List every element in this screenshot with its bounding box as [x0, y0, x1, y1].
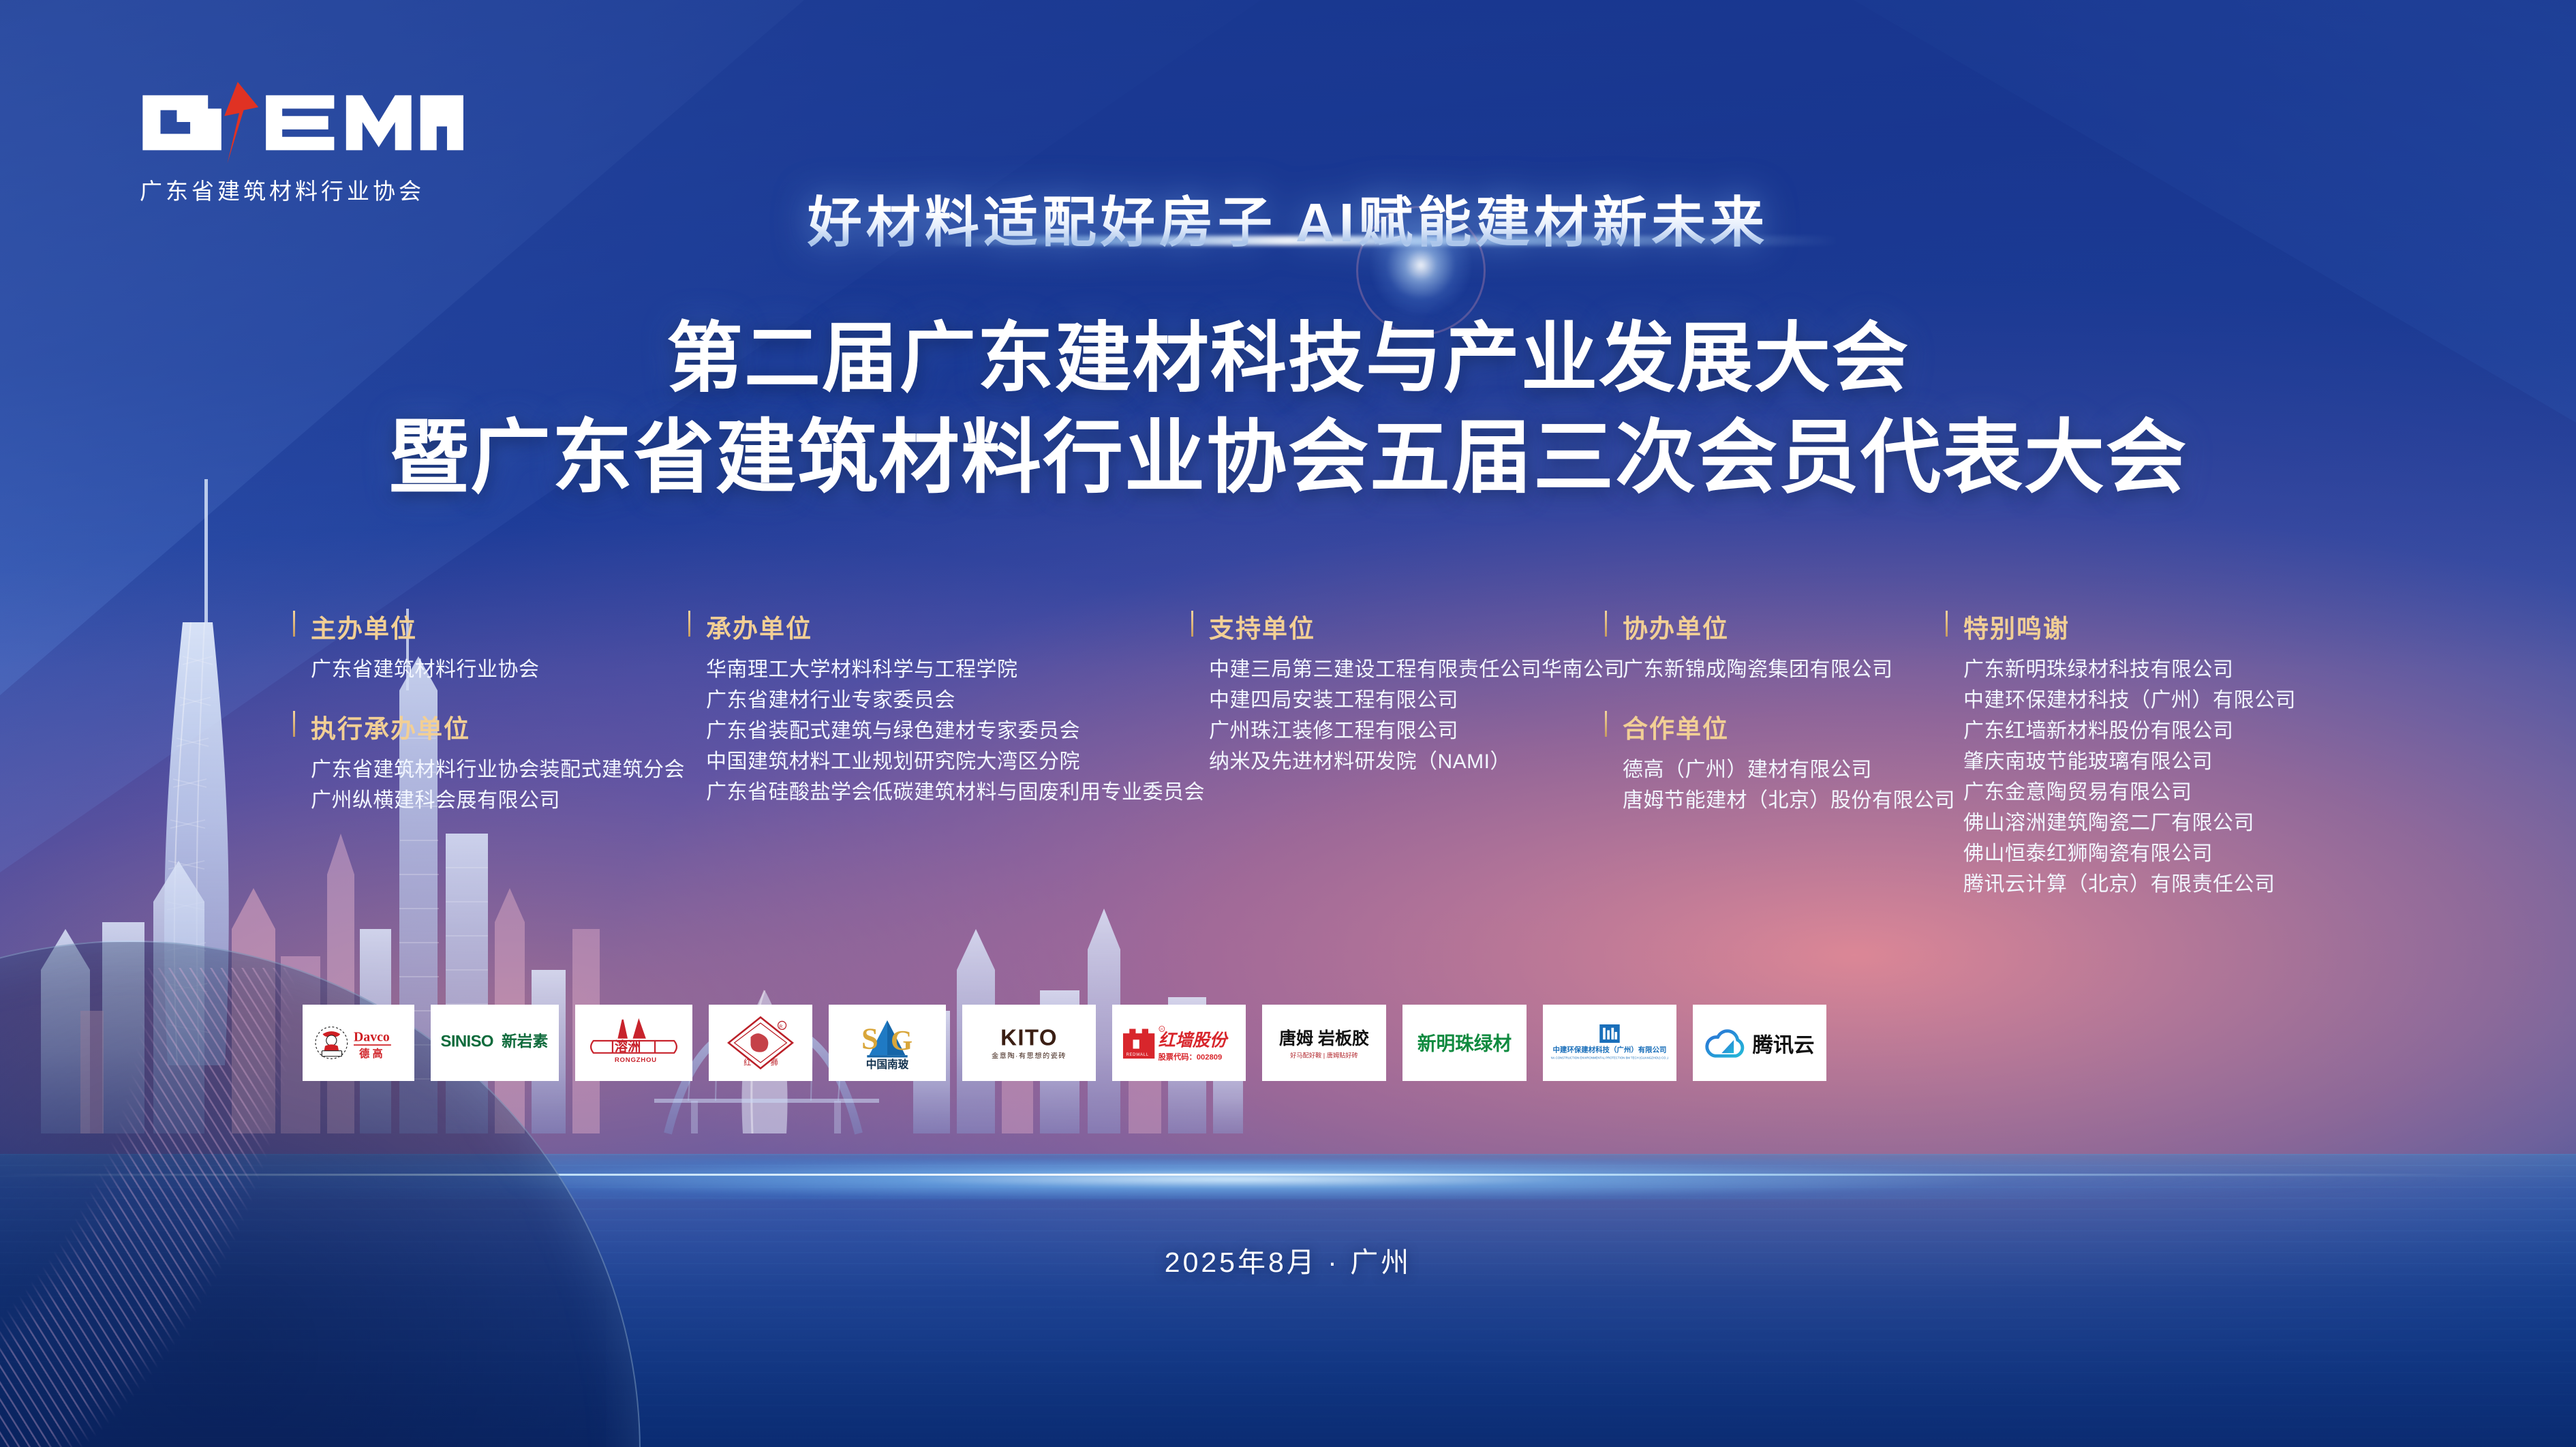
svg-text:CHINA CONSTRUCTION ENVIRONMENT: CHINA CONSTRUCTION ENVIRONMENTAL PROTECT… — [1551, 1056, 1668, 1059]
svg-text:R: R — [779, 1024, 782, 1029]
svg-text:狮: 狮 — [771, 1058, 778, 1067]
org-list-chengban: 华南理工大学材料科学与工程学院 广东省建材行业专家委员会 广东省装配式建筑与绿色… — [688, 654, 1205, 808]
svg-text:唐姆 岩板胶: 唐姆 岩板胶 — [1279, 1029, 1369, 1048]
org-column-2: 承办单位 华南理工大学材料科学与工程学院 广东省建材行业专家委员会 广东省装配式… — [688, 608, 1205, 819]
org-item: 腾讯云计算（北京）有限责任公司 — [1963, 869, 2296, 900]
svg-text:腾讯云: 腾讯云 — [1753, 1034, 1815, 1057]
org-list-zhixing-chengban: 广东省建筑材料行业协会装配式建筑分会 广州纵横建科会展有限公司 — [293, 755, 685, 816]
org-item: 广东省建筑材料行业协会 — [311, 654, 685, 685]
org-heading-tebie-mingxie: 特别鸣谢 — [1946, 608, 2296, 645]
sponsor-logo-kito: KITO 金意陶·有思想的瓷砖 — [962, 1005, 1096, 1081]
org-heading-xieban: 协办单位 — [1605, 608, 1955, 645]
sponsor-logo-siniso: SINISO 新岩素 — [431, 1005, 559, 1081]
org-heading-zhixing-chengban: 执行承办单位 — [293, 708, 685, 745]
org-item: 华南理工大学材料科学与工程学院 — [706, 654, 1205, 685]
sponsor-logo-cscec: 中建环保建材科技（广州）有限公司 CHINA CONSTRUCTION ENVI… — [1543, 1005, 1676, 1081]
svg-text:中建环保建材科技（广州）有限公司: 中建环保建材科技（广州）有限公司 — [1553, 1046, 1667, 1054]
sponsor-logo-rongzhou: 溶洲 RONGZHOU — [575, 1005, 692, 1081]
org-item: 中国建筑材料工业规划研究院大湾区分院 — [706, 746, 1205, 777]
org-item: 广东省硅酸盐学会低碳建筑材料与固废利用专业委员会 — [706, 777, 1205, 808]
org-list-tebie-mingxie: 广东新明珠绿材科技有限公司 中建环保建材科技（广州）有限公司 广东红墙新材料股份… — [1946, 654, 2296, 900]
gbma-logomark — [140, 80, 467, 164]
org-list-zhichi: 中建三局第三建设工程有限责任公司华南公司 中建四局安装工程有限公司 广州珠江装修… — [1191, 654, 1625, 777]
sponsor-logo-strip: Davco 德 高 SINISO 新岩素 溶洲 — [0, 1002, 2576, 1084]
svg-text:德 高: 德 高 — [359, 1048, 383, 1060]
org-item: 广东省建筑材料行业协会装配式建筑分会 — [311, 755, 685, 785]
svg-text:新明珠绿材: 新明珠绿材 — [1417, 1033, 1512, 1054]
tagline-block: 好材料适配好房子 AI赋能建材新未来 — [0, 179, 2576, 267]
sponsor-logo-tangmu: 唐姆 岩板胶 好马配好鞍 | 唐姆贴好砖 — [1262, 1005, 1386, 1081]
svg-text:红: 红 — [743, 1058, 751, 1067]
conference-banner: 广东省建筑材料行业协会 好材料适配好房子 AI赋能建材新未来 第二届广东建材科技… — [0, 0, 2576, 1447]
sponsor-logo-redwall: REDWALL R 红墙股份 股票代码：002809 — [1112, 1005, 1246, 1081]
org-item: 广东红墙新材料股份有限公司 — [1963, 716, 2296, 746]
org-item: 广东新明珠绿材科技有限公司 — [1963, 654, 2296, 685]
org-heading-zhuban: 主办单位 — [293, 608, 685, 645]
org-item: 唐姆节能建材（北京）股份有限公司 — [1623, 785, 1955, 816]
svg-text:Davco: Davco — [354, 1030, 390, 1045]
svg-text:溶洲: 溶洲 — [615, 1039, 641, 1054]
svg-text:金意陶·有思想的瓷砖: 金意陶·有思想的瓷砖 — [992, 1052, 1067, 1061]
svg-text:S: S — [861, 1021, 878, 1055]
org-item: 广东金意陶贸易有限公司 — [1963, 777, 2296, 808]
event-date-location: 2025年8月 · 广州 — [0, 1239, 2576, 1280]
org-list-hezuo: 德高（广州）建材有限公司 唐姆节能建材（北京）股份有限公司 — [1605, 755, 1955, 816]
org-column-4: 协办单位 广东新锦成陶瓷集团有限公司 合作单位 德高（广州）建材有限公司 唐姆节… — [1605, 608, 1955, 827]
org-item: 中建四局安装工程有限公司 — [1209, 685, 1625, 716]
svg-text:好马配好鞍 | 唐姆贴好砖: 好马配好鞍 | 唐姆贴好砖 — [1290, 1052, 1358, 1059]
organizations-block: 主办单位 广东省建筑材料行业协会 执行承办单位 广东省建筑材料行业协会装配式建筑… — [0, 608, 2576, 853]
org-item: 德高（广州）建材有限公司 — [1623, 755, 1955, 785]
org-item: 广州珠江装修工程有限公司 — [1209, 716, 1625, 746]
org-heading-hezuo: 合作单位 — [1605, 708, 1955, 745]
svg-text:新岩素: 新岩素 — [502, 1033, 548, 1050]
org-heading-zhichi: 支持单位 — [1191, 608, 1625, 645]
org-item: 广东省装配式建筑与绿色建材专家委员会 — [706, 716, 1205, 746]
sponsor-logo-davco: Davco 德 高 — [303, 1005, 414, 1081]
sponsor-logo-tencentcloud: 腾讯云 — [1693, 1005, 1826, 1081]
org-item: 广东省建材行业专家委员会 — [706, 685, 1205, 716]
org-column-3: 支持单位 中建三局第三建设工程有限责任公司华南公司 中建四局安装工程有限公司 广… — [1191, 608, 1625, 788]
org-item: 肇庆南玻节能玻璃有限公司 — [1963, 746, 2296, 777]
org-item: 广东新锦成陶瓷集团有限公司 — [1623, 654, 1955, 685]
svg-text:REDWALL: REDWALL — [1126, 1053, 1149, 1057]
org-heading-chengban: 承办单位 — [688, 608, 1205, 645]
org-item: 中建环保建材科技（广州）有限公司 — [1963, 685, 2296, 716]
org-item: 纳米及先进材料研发院（NAMI） — [1209, 746, 1625, 777]
sponsor-logo-hongshi: R 红 狮 — [709, 1005, 812, 1081]
org-item: 中建三局第三建设工程有限责任公司华南公司 — [1209, 654, 1625, 685]
svg-text:中国南玻: 中国南玻 — [866, 1058, 909, 1071]
svg-text:红墙股份: 红墙股份 — [1159, 1031, 1229, 1050]
sponsor-logo-xinmingzhu: 新明珠绿材 — [1402, 1005, 1527, 1081]
org-list-zhuban: 广东省建筑材料行业协会 — [293, 654, 685, 685]
org-column-5: 特别鸣谢 广东新明珠绿材科技有限公司 中建环保建材科技（广州）有限公司 广东红墙… — [1946, 608, 2296, 911]
org-list-xieban: 广东新锦成陶瓷集团有限公司 — [1605, 654, 1955, 685]
org-column-1: 主办单位 广东省建筑材料行业协会 执行承办单位 广东省建筑材料行业协会装配式建筑… — [293, 608, 685, 827]
svg-text:RONGZHOU: RONGZHOU — [615, 1056, 657, 1064]
event-title-block: 第二届广东建材科技与产业发展大会 暨广东省建筑材料行业协会五届三次会员代表大会 — [0, 312, 2576, 508]
svg-text:SINISO: SINISO — [441, 1033, 493, 1051]
svg-text:股票代码：002809: 股票代码：002809 — [1159, 1052, 1223, 1061]
svg-text:R: R — [1161, 1027, 1163, 1031]
event-title-line1: 第二届广东建材科技与产业发展大会 — [0, 312, 2576, 406]
svg-text:KITO: KITO — [1000, 1024, 1058, 1050]
org-item: 佛山恒泰红狮陶瓷有限公司 — [1963, 838, 2296, 869]
event-title-line2: 暨广东省建筑材料行业协会五届三次会员代表大会 — [0, 410, 2576, 508]
org-item: 佛山溶洲建筑陶瓷二厂有限公司 — [1963, 808, 2296, 838]
sponsor-logo-csg: S G 中国南玻 — [829, 1005, 946, 1081]
svg-text:G: G — [891, 1024, 913, 1056]
org-item: 广州纵横建科会展有限公司 — [311, 785, 685, 816]
event-tagline: 好材料适配好房子 AI赋能建材新未来 — [0, 179, 2576, 258]
